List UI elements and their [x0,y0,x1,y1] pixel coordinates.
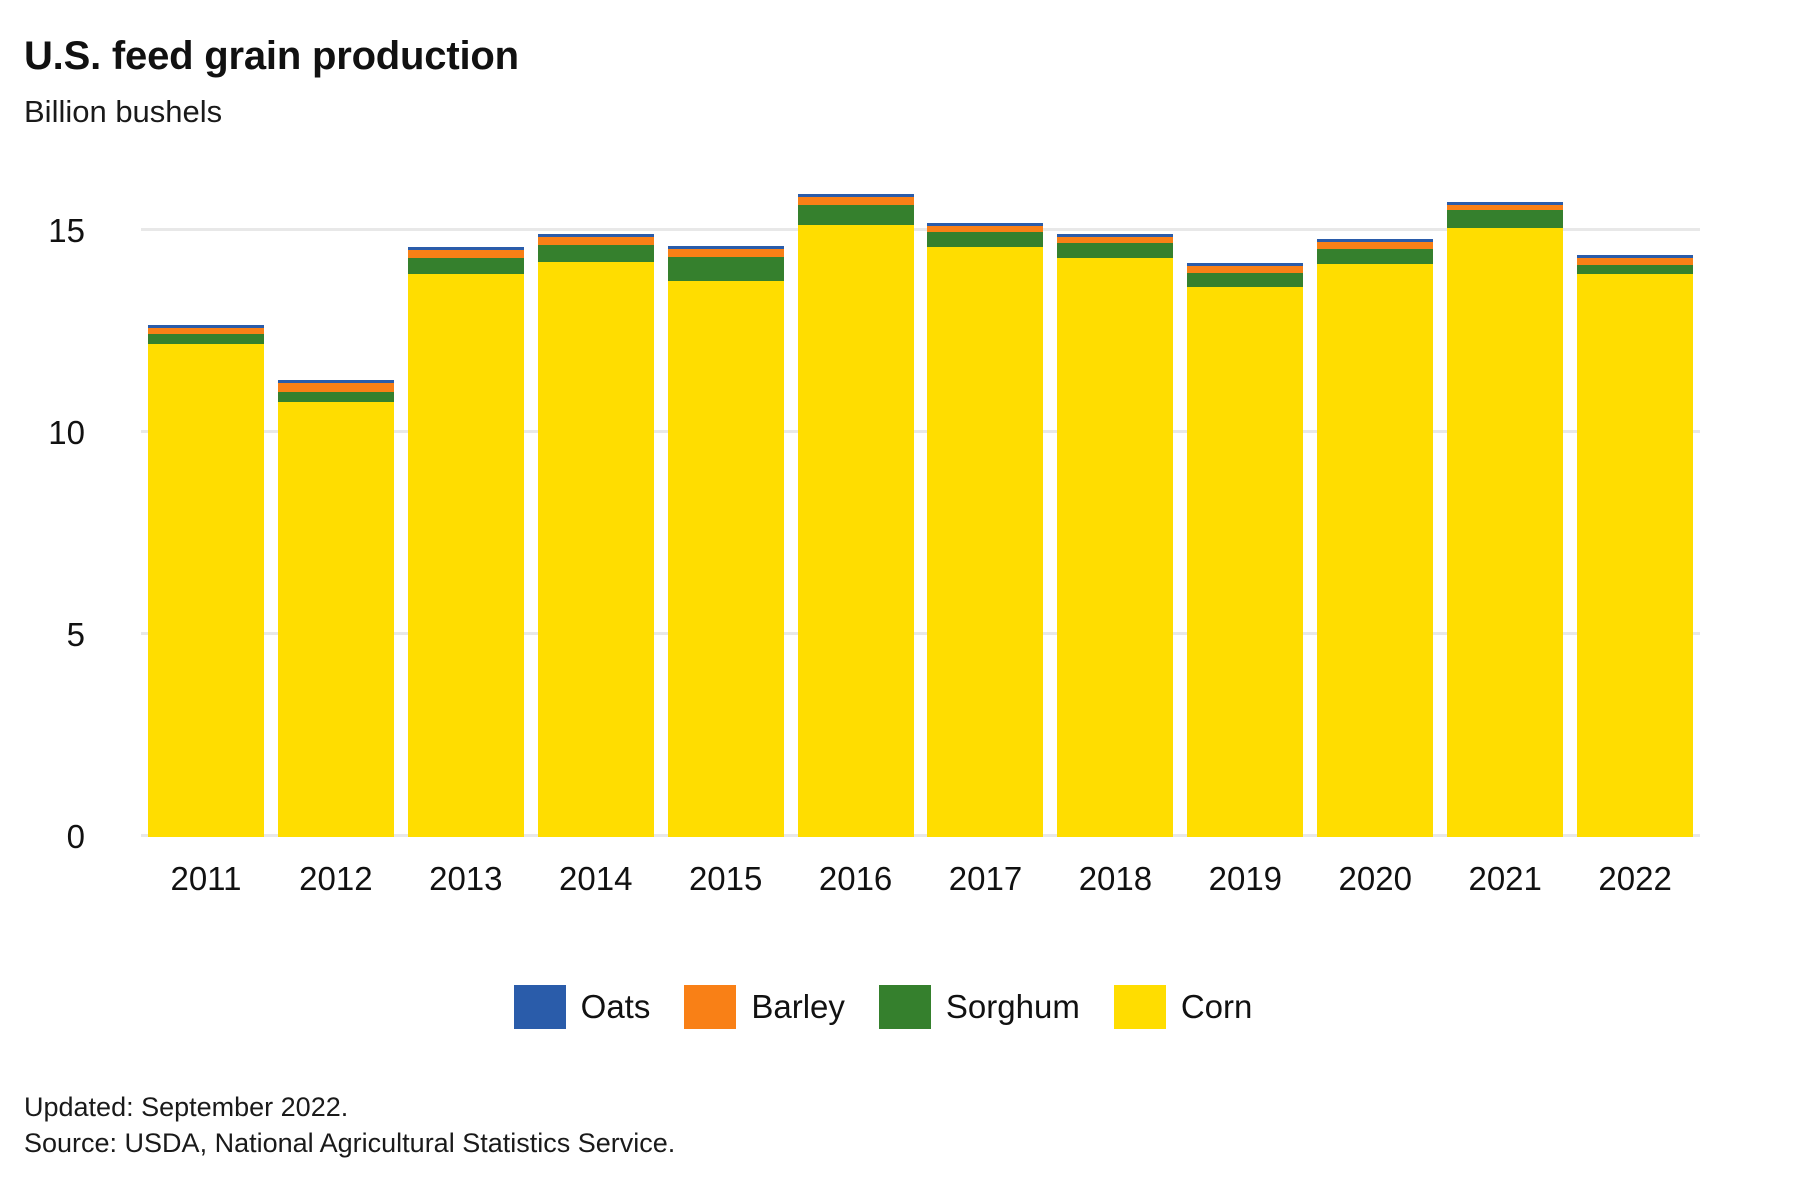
x-axis-tick-label: 2019 [1180,860,1310,920]
bar-slot [1440,180,1570,837]
bar-segment-sorghum[interactable] [278,392,394,402]
bar-group [141,180,1700,837]
footer-source: Source: USDA, National Agricultural Stat… [24,1126,675,1162]
bar-slot [1050,180,1180,837]
bar-slot [661,180,791,837]
x-axis-ticks: 2011201220132014201520162017201820192020… [141,860,1700,920]
bar-segment-barley[interactable] [668,249,784,257]
legend-swatch-oats [514,985,566,1029]
bar-slot [401,180,531,837]
bar-segment-corn[interactable] [408,274,524,837]
bar-segment-corn[interactable] [798,225,914,837]
x-axis-tick-label: 2016 [791,860,921,920]
stacked-bar[interactable] [538,234,654,837]
x-axis-tick-label: 2013 [401,860,531,920]
bar-segment-corn[interactable] [538,262,654,837]
bar-segment-sorghum[interactable] [927,232,1043,247]
bar-segment-barley[interactable] [408,250,524,258]
bar-slot [141,180,271,837]
x-axis-tick-label: 2020 [1310,860,1440,920]
stacked-bar[interactable] [148,325,264,837]
stacked-bar[interactable] [927,223,1043,837]
legend-swatch-sorghum [879,985,931,1029]
bar-segment-barley[interactable] [1187,266,1303,273]
bar-segment-sorghum[interactable] [798,205,914,224]
bar-segment-barley[interactable] [1577,258,1693,265]
bar-segment-corn[interactable] [148,344,264,837]
legend-item-barley[interactable]: Barley [684,985,845,1029]
bar-slot [1310,180,1440,837]
bar-segment-sorghum[interactable] [1057,243,1173,258]
bar-segment-sorghum[interactable] [1317,249,1433,264]
stacked-bar[interactable] [1187,263,1303,837]
stacked-bar[interactable] [1317,239,1433,837]
bar-segment-corn[interactable] [668,281,784,837]
bar-segment-barley[interactable] [278,383,394,392]
bar-segment-sorghum[interactable] [538,245,654,262]
bar-slot [271,180,401,837]
bar-slot [531,180,661,837]
x-axis-tick-label: 2017 [921,860,1051,920]
bar-slot [1180,180,1310,837]
stacked-bar[interactable] [1057,234,1173,837]
stacked-bar[interactable] [1447,202,1563,837]
bar-segment-corn[interactable] [278,402,394,837]
bar-segment-corn[interactable] [1317,264,1433,837]
x-axis-tick-label: 2015 [661,860,791,920]
y-axis-tick-label: 10 [0,414,85,452]
bar-slot [1570,180,1700,837]
footer-notes: Updated: September 2022. Source: USDA, N… [24,1090,675,1162]
legend-swatch-corn [1114,985,1166,1029]
y-axis-tick-label: 0 [0,818,85,856]
bar-segment-sorghum[interactable] [408,258,524,274]
legend-label: Barley [751,988,845,1026]
legend-label: Corn [1181,988,1253,1026]
bar-segment-corn[interactable] [1057,258,1173,837]
bar-segment-corn[interactable] [1187,287,1303,837]
bar-segment-sorghum[interactable] [1187,273,1303,287]
bar-segment-sorghum[interactable] [1447,210,1563,228]
bar-segment-corn[interactable] [927,247,1043,837]
stacked-bar[interactable] [278,380,394,837]
x-axis-tick-label: 2022 [1570,860,1700,920]
plot-area [141,180,1700,837]
bar-segment-barley[interactable] [798,197,914,205]
bar-segment-corn[interactable] [1447,228,1563,837]
bar-slot [791,180,921,837]
legend-label: Sorghum [946,988,1080,1026]
bar-segment-corn[interactable] [1577,274,1693,837]
footer-updated: Updated: September 2022. [24,1090,675,1126]
legend-item-corn[interactable]: Corn [1114,985,1253,1029]
x-axis-tick-label: 2018 [1050,860,1180,920]
bar-slot [921,180,1051,837]
x-axis-tick-label: 2012 [271,860,401,920]
bar-segment-barley[interactable] [1317,242,1433,249]
chart-subtitle: Billion bushels [24,94,222,130]
x-axis-tick-label: 2011 [141,860,271,920]
y-axis-tick-label: 15 [0,212,85,250]
bar-segment-sorghum[interactable] [668,257,784,281]
legend-label: Oats [581,988,651,1026]
legend: OatsBarleySorghumCorn [0,985,1800,1029]
stacked-bar[interactable] [1577,255,1693,837]
stacked-bar[interactable] [408,247,524,837]
bar-segment-barley[interactable] [538,237,654,245]
stacked-bar[interactable] [668,246,784,837]
bar-segment-sorghum[interactable] [1577,265,1693,273]
x-axis-tick-label: 2014 [531,860,661,920]
legend-swatch-barley [684,985,736,1029]
y-axis-tick-label: 5 [0,616,85,654]
stacked-bar[interactable] [798,194,914,837]
x-axis-tick-label: 2021 [1440,860,1570,920]
chart-title: U.S. feed grain production [24,34,519,79]
legend-item-oats[interactable]: Oats [514,985,651,1029]
legend-item-sorghum[interactable]: Sorghum [879,985,1080,1029]
chart-root: U.S. feed grain production Billion bushe… [0,0,1800,1200]
bar-segment-sorghum[interactable] [148,334,264,344]
